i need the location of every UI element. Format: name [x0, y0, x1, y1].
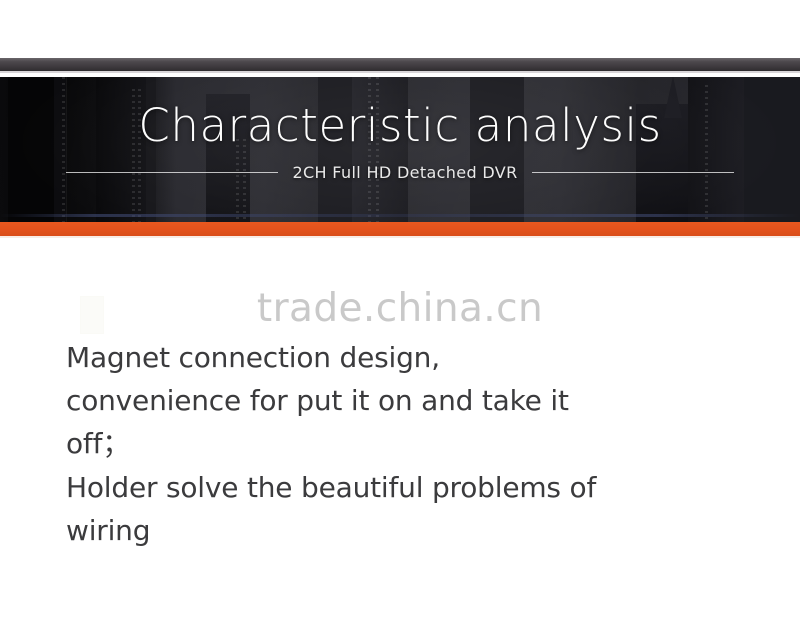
feature-paragraph-1: Magnet connection design, convenience fo… [66, 336, 606, 465]
hero-rule-left [66, 172, 278, 173]
feature-paragraph-2: Holder solve the beautiful problems of w… [66, 466, 606, 552]
hero-title: Characteristic analysis [0, 98, 800, 154]
hero-reflection-strip [0, 214, 800, 217]
slide-page: Characteristic analysis 2CH Full HD Deta… [0, 0, 800, 644]
top-divider-shadow [0, 71, 800, 73]
top-divider-bar [0, 58, 800, 71]
orange-accent-bar [0, 222, 800, 236]
feature-description: Magnet connection design, convenience fo… [66, 336, 606, 552]
hero-subtitle: 2CH Full HD Detached DVR [292, 163, 517, 182]
hero-subtitle-row: 2CH Full HD Detached DVR [0, 163, 800, 182]
hero-rule-right [532, 172, 734, 173]
content-area: trade.china.cn Magnet connection design,… [0, 238, 800, 644]
site-watermark: trade.china.cn [0, 286, 800, 331]
hero-banner: Characteristic analysis 2CH Full HD Deta… [0, 77, 800, 222]
